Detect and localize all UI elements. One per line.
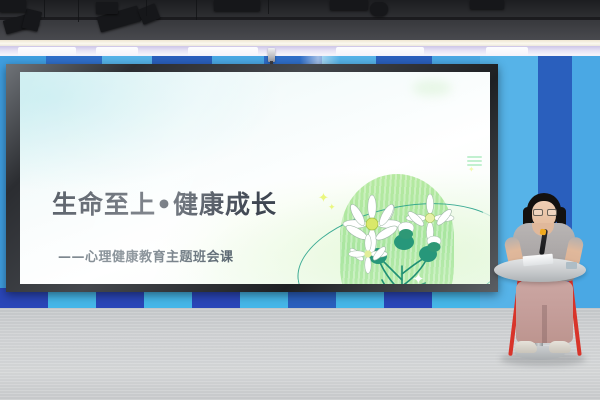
hamburger-menu-icon[interactable] <box>467 156 482 167</box>
slide-title: 生命至上•健康成长 <box>52 185 277 221</box>
sparkle-icon: ✦ <box>468 166 475 174</box>
menu-line <box>467 156 482 158</box>
menu-line <box>467 164 482 166</box>
mic-band <box>540 229 547 236</box>
phone-on-table <box>566 262 577 269</box>
daisy-flowers-illustration: ✦ ✦ ✦ ✦ <box>316 162 490 284</box>
stage-light-icon <box>0 0 26 12</box>
shoe-left <box>515 341 537 353</box>
presentation-slide[interactable]: ✦ ✦ ✦ ✦ 生命至上•健康成长 ——心理健康教育主题班会课 合肥七中 阳光少… <box>20 72 490 284</box>
stage-light-icon <box>330 0 368 10</box>
cable <box>44 0 45 18</box>
cable <box>196 0 197 20</box>
glow-decoration <box>412 80 452 96</box>
lighting-rig-bar <box>0 17 600 20</box>
stage-light-icon <box>214 0 260 11</box>
sparkle-icon: ✦ <box>412 272 425 284</box>
speaker-icon <box>370 2 388 16</box>
daisy-svg <box>316 162 490 284</box>
leg-gap <box>542 305 547 343</box>
shoe-right <box>549 341 571 353</box>
cable <box>78 0 79 22</box>
wall-camera-icon <box>268 48 275 62</box>
cable <box>268 0 269 14</box>
stage-light-icon <box>470 0 504 9</box>
menu-line <box>467 160 482 162</box>
cable <box>146 0 147 16</box>
slide-subtitle: ——心理健康教育主题班会课 <box>58 246 234 265</box>
led-screen-bezel: ✦ ✦ ✦ ✦ 生命至上•健康成长 ——心理健康教育主题班会课 合肥七中 阳光少… <box>6 64 498 292</box>
stage-light-icon <box>96 2 118 14</box>
classroom-presentation-screenshot: ✦ ✦ ✦ ✦ 生命至上•健康成长 ——心理健康教育主题班会课 合肥七中 阳光少… <box>0 0 600 400</box>
glasses-icon <box>533 209 555 214</box>
sparkle-icon: ✦ <box>328 204 336 213</box>
